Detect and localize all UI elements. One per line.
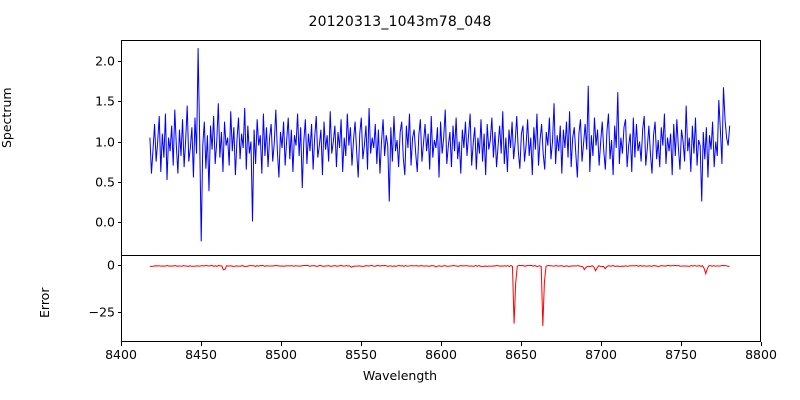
spectrum-ytick-mark	[118, 61, 122, 62]
x-tick-label: 8700	[585, 347, 617, 362]
x-tick-mark	[121, 342, 122, 346]
x-tick-mark	[441, 342, 442, 346]
x-tick-label: 8500	[265, 347, 297, 362]
spectrum-ytick-label: 1.0	[60, 134, 115, 149]
x-tick-mark	[761, 342, 762, 346]
spectrum-ytick-mark	[118, 142, 122, 143]
x-tick-label: 8450	[185, 347, 217, 362]
x-tick-mark	[361, 342, 362, 346]
error-ytick-mark	[118, 312, 122, 313]
spectrum-ytick-mark	[118, 101, 122, 102]
x-tick-label: 8550	[345, 347, 377, 362]
x-tick-mark	[281, 342, 282, 346]
figure-canvas: 20120313_1043m78_048 0.00.51.01.52.00−25…	[0, 0, 800, 400]
x-tick-mark	[521, 342, 522, 346]
plot-title: 20120313_1043m78_048	[0, 14, 800, 30]
x-tick-label: 8600	[425, 347, 457, 362]
x-tick-label: 8800	[745, 347, 777, 362]
error-ytick-mark	[118, 265, 122, 266]
spectrum-axes	[121, 40, 761, 256]
x-tick-mark	[681, 342, 682, 346]
spectrum-ytick-mark	[118, 222, 122, 223]
x-tick-label: 8400	[105, 347, 137, 362]
error-axes	[121, 256, 761, 342]
error-line-series	[122, 256, 760, 341]
x-tick-label: 8750	[665, 347, 697, 362]
spectrum-line-series	[122, 41, 760, 255]
x-tick-mark	[201, 342, 202, 346]
error-ytick-label: −25	[60, 305, 115, 320]
spectrum-ytick-label: 0.0	[60, 215, 115, 230]
spectrum-ytick-label: 1.5	[60, 94, 115, 109]
spectrum-y-axis-label: Spectrum	[0, 87, 14, 148]
x-axis-label: Wavelength	[0, 368, 800, 383]
spectrum-ytick-mark	[118, 182, 122, 183]
spectrum-ytick-label: 0.5	[60, 174, 115, 189]
spectrum-ytick-label: 2.0	[60, 53, 115, 68]
error-ytick-label: 0	[60, 258, 115, 273]
x-tick-mark	[601, 342, 602, 346]
x-tick-label: 8650	[505, 347, 537, 362]
error-y-axis-label: Error	[37, 288, 52, 318]
